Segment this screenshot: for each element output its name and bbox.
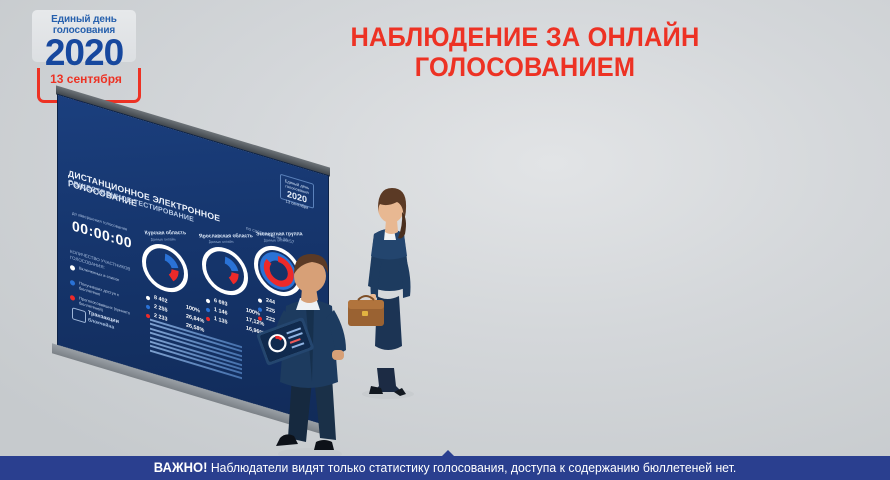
stat-dot bbox=[206, 298, 210, 303]
gauge-sub-expert: Данные онлайн bbox=[263, 238, 289, 242]
page-title: НАБЛЮДЕНИЕ ЗА ОНЛАЙН ГОЛОСОВАНИЕМ bbox=[243, 22, 807, 82]
stat-dot bbox=[206, 316, 210, 321]
logo-line-1: Единый день bbox=[32, 14, 136, 25]
stat-dot bbox=[206, 307, 210, 312]
stat-dot bbox=[146, 313, 150, 318]
stat-pct: 100% bbox=[186, 304, 200, 314]
screen-mini-logo: Единый день голосования 2020 13 сентября bbox=[280, 174, 314, 209]
gauge-title-yaroslavl: Ярославская область bbox=[198, 233, 253, 240]
gauge-title-kursk: Курская область bbox=[144, 230, 187, 236]
banner-text: ВАЖНО! Наблюдатели видят только статисти… bbox=[13, 461, 876, 475]
legend-dot-accessed bbox=[70, 280, 75, 287]
stat-dot bbox=[146, 304, 150, 309]
banner-notch-icon bbox=[441, 450, 455, 457]
stat-value: 6 693 bbox=[214, 298, 228, 308]
gauge-title-expert: Экспертная группа bbox=[255, 231, 303, 238]
observer-man-illustration bbox=[248, 246, 368, 461]
stat-value: 1 146 bbox=[214, 307, 228, 317]
logo-date: 13 сентября bbox=[37, 72, 135, 86]
legend-dot-voted bbox=[70, 295, 75, 302]
banner-body-text: Наблюдатели видят только статистику голо… bbox=[211, 461, 736, 475]
banner-important-label: ВАЖНО! bbox=[154, 460, 208, 475]
stat-value: 8 402 bbox=[154, 295, 168, 305]
important-banner: ВАЖНО! Наблюдатели видят только статисти… bbox=[0, 456, 890, 480]
logo-year: 2020 bbox=[26, 34, 142, 71]
blockchain-icon bbox=[72, 307, 86, 323]
gauge-yaroslavl bbox=[202, 241, 248, 301]
stat-dot bbox=[146, 295, 150, 300]
legend-dot-included bbox=[70, 265, 75, 272]
gauge-kursk bbox=[142, 238, 188, 298]
stat-value: 2 255 bbox=[154, 304, 168, 314]
stat-value: 1 135 bbox=[214, 316, 228, 326]
slide-root: Единый день голосования 2020 13 сентября… bbox=[0, 0, 890, 480]
